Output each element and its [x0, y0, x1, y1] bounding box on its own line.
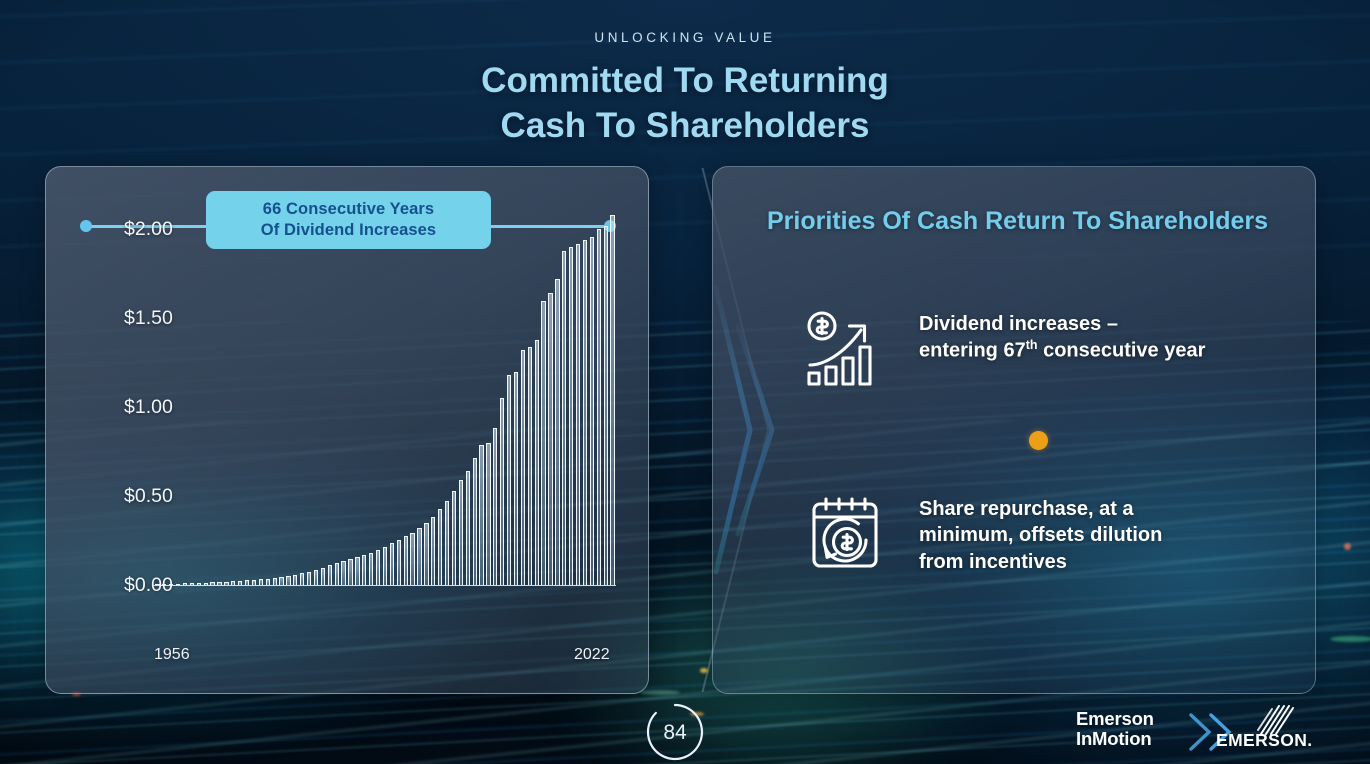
page-number-badge: 84 [645, 702, 705, 762]
priorities-panel: Priorities Of Cash Return To Shareholder… [712, 166, 1316, 694]
chart-bar [535, 340, 539, 585]
dividend-bar-chart: $0.00$0.50$1.00$1.50$2.00 1956 2022 [46, 167, 649, 694]
chart-bar [466, 471, 470, 585]
chart-bar [541, 301, 545, 585]
priority-item-share-repurchase: Share repurchase, at a minimum, offsets … [803, 492, 1283, 581]
chart-bar [452, 491, 456, 585]
priority-repurchase-line-1: Share repurchase, at a [919, 496, 1162, 522]
chart-bar [431, 517, 435, 585]
priorities-separator-dot [1029, 431, 1048, 450]
priority-dividend-line-2-post: consecutive year [1038, 340, 1206, 362]
chart-bar [355, 557, 359, 585]
priority-item-dividend-text: Dividend increases – entering 67th conse… [887, 307, 1205, 364]
chart-bar [417, 528, 421, 585]
chart-bar [562, 251, 566, 585]
slide-title-line-2: Cash To Shareholders [0, 103, 1370, 148]
chart-bar [473, 458, 477, 585]
chart-bar [397, 540, 401, 585]
chart-bar [369, 553, 373, 585]
chart-x-tick-start: 1956 [154, 646, 190, 664]
chart-bar [486, 443, 490, 585]
chart-bar [424, 523, 428, 585]
chart-bar [362, 555, 366, 585]
ordinal-suffix: th [1026, 338, 1038, 352]
slide-title: Committed To Returning Cash To Sharehold… [0, 58, 1370, 148]
chart-bar [479, 445, 483, 585]
chart-bar [493, 428, 497, 586]
emerson-wordmark-text: EMERSON [1216, 730, 1307, 750]
chart-x-axis-line [154, 585, 616, 587]
chart-bar [514, 372, 518, 585]
chart-bar [390, 543, 394, 585]
chart-bar [500, 398, 504, 585]
chart-bar [335, 563, 339, 585]
chart-bar [569, 247, 573, 585]
chart-bar [555, 279, 559, 585]
chart-bar [410, 533, 414, 585]
chart-bar [314, 570, 318, 585]
chart-bar [404, 536, 408, 585]
priority-item-repurchase-text: Share repurchase, at a minimum, offsets … [887, 492, 1162, 575]
chart-x-tick-end: 2022 [574, 646, 610, 664]
chart-bar [341, 561, 345, 585]
priority-dividend-line-1: Dividend increases – [919, 311, 1205, 337]
chart-bar [383, 547, 387, 585]
chart-bar [597, 229, 601, 585]
chart-bar [548, 293, 552, 585]
priority-item-dividend-increases: Dividend increases – entering 67th conse… [803, 307, 1283, 396]
emerson-inmotion-logo-line-2: InMotion [1076, 729, 1154, 749]
priorities-panel-title: Priorities Of Cash Return To Shareholder… [767, 207, 1287, 236]
chart-bar [445, 501, 449, 585]
chart-bar [521, 350, 525, 585]
chart-bar [507, 375, 511, 585]
chart-bar [528, 347, 532, 585]
priority-repurchase-line-3: from incentives [919, 549, 1162, 575]
chart-bar [300, 573, 304, 585]
emerson-wordmark: EMERSON. [1216, 730, 1313, 751]
chart-bar [576, 244, 580, 585]
chart-bar [348, 559, 352, 585]
chart-bar [376, 550, 380, 585]
dividend-chart-panel: 66 Consecutive Years Of Dividend Increas… [45, 166, 649, 694]
priority-dividend-line-2-pre: entering 67 [919, 340, 1026, 362]
chart-bar [307, 572, 311, 585]
slide-title-line-1: Committed To Returning [0, 58, 1370, 103]
chart-bar [328, 565, 332, 585]
priority-dividend-line-2: entering 67th consecutive year [919, 337, 1205, 364]
page-number-value: 84 [645, 702, 705, 762]
share-repurchase-calendar-icon [803, 492, 887, 581]
chart-bar [610, 215, 614, 585]
chart-bar [583, 240, 587, 585]
chart-bar [438, 509, 442, 585]
chart-bar [321, 568, 325, 585]
chart-bar [293, 575, 297, 585]
dividend-growth-icon [803, 307, 887, 396]
chart-bar [459, 480, 463, 585]
chart-plot-area [154, 185, 616, 585]
priority-repurchase-line-2: minimum, offsets dilution [919, 522, 1162, 548]
emerson-inmotion-logo-line-1: Emerson [1076, 709, 1154, 729]
chart-bar [604, 226, 608, 585]
slide-eyebrow: UNLOCKING VALUE [0, 30, 1370, 45]
emerson-wordmark-period: . [1307, 730, 1312, 750]
chart-bar [590, 237, 594, 585]
emerson-inmotion-logo: Emerson InMotion [1076, 709, 1154, 750]
